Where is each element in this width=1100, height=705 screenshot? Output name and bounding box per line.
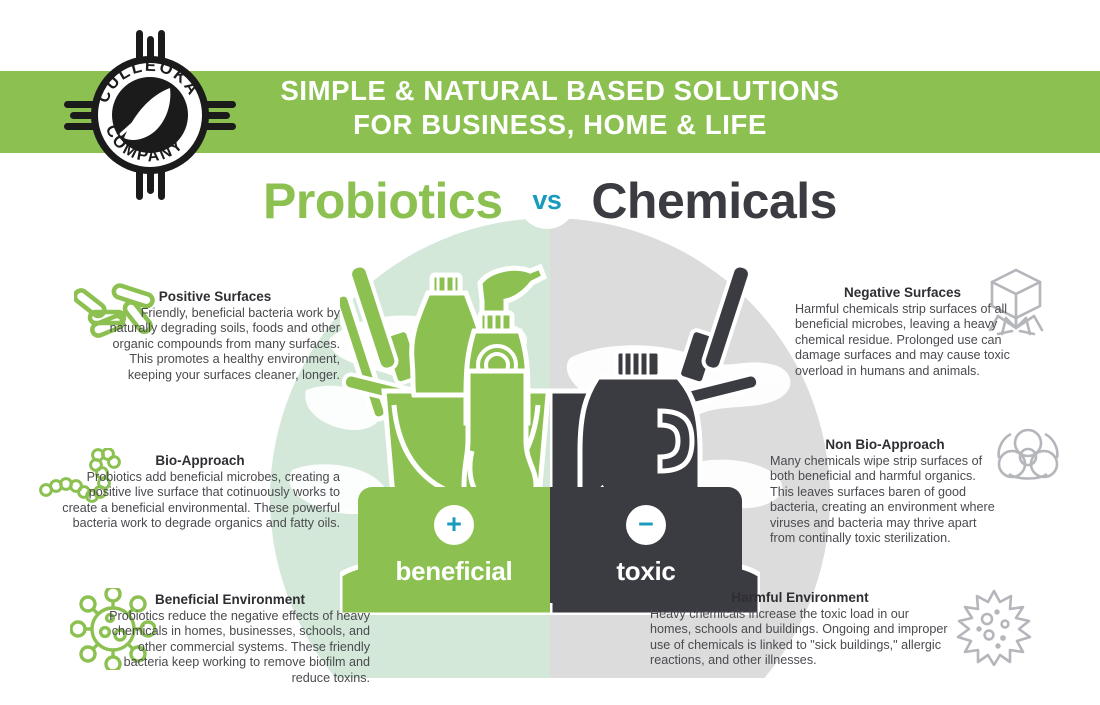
- biohazard-icon: [995, 428, 1061, 493]
- beneficial-label: beneficial: [358, 556, 550, 587]
- block-body: Harmful chemicals strip surfaces of all …: [795, 302, 1010, 379]
- virus-icon: [953, 588, 1035, 671]
- title-vs-badge: vs: [518, 171, 576, 229]
- block-positive-surfaces: Positive Surfaces Friendly, beneficial b…: [90, 289, 340, 383]
- toxic-label: toxic: [550, 556, 742, 587]
- block-harmful-environment: Harmful Environment Heavy chemicals incr…: [650, 590, 950, 669]
- block-body: Many chemicals wipe strip surfaces of bo…: [770, 454, 1000, 546]
- block-body: Heavy chemicals increase the toxic load …: [650, 607, 950, 669]
- title-chemicals: Chemicals: [591, 173, 837, 229]
- minus-icon: −: [626, 505, 666, 545]
- block-heading: Bio-Approach: [60, 453, 340, 469]
- block-negative-surfaces: Negative Surfaces Harmful chemicals stri…: [795, 285, 1010, 379]
- block-body: Probiotics add beneficial microbes, crea…: [60, 470, 340, 532]
- block-heading: Harmful Environment: [650, 590, 950, 606]
- beneficial-panel: + beneficial: [358, 487, 550, 603]
- block-heading: Beneficial Environment: [90, 592, 370, 608]
- block-heading: Negative Surfaces: [795, 285, 1010, 301]
- title-probiotics: Probiotics: [263, 173, 502, 229]
- plus-icon: +: [434, 505, 474, 545]
- header-tagline: SIMPLE & NATURAL BASED SOLUTIONS FOR BUS…: [230, 74, 890, 142]
- page-title: Probiotics vs Chemicals: [0, 172, 1100, 234]
- toxic-panel: − toxic: [550, 487, 742, 603]
- beneficial-toxic-bar: + beneficial − toxic: [358, 487, 742, 603]
- block-bio-approach: Bio-Approach Probiotics add beneficial m…: [60, 453, 340, 532]
- infographic-page: SIMPLE & NATURAL BASED SOLUTIONS FOR BUS…: [0, 0, 1100, 705]
- block-beneficial-environment: Beneficial Environment Probiotics reduce…: [90, 592, 370, 686]
- header-tagline-line2: FOR BUSINESS, HOME & LIFE: [230, 108, 890, 142]
- block-body: Friendly, beneficial bacteria work by na…: [90, 306, 340, 383]
- block-heading: Non Bio-Approach: [770, 437, 1000, 453]
- block-body: Probiotics reduce the negative effects o…: [90, 609, 370, 686]
- block-non-bio-approach: Non Bio-Approach Many chemicals wipe str…: [770, 437, 1000, 546]
- block-heading: Positive Surfaces: [90, 289, 340, 305]
- header-tagline-line1: SIMPLE & NATURAL BASED SOLUTIONS: [280, 75, 839, 106]
